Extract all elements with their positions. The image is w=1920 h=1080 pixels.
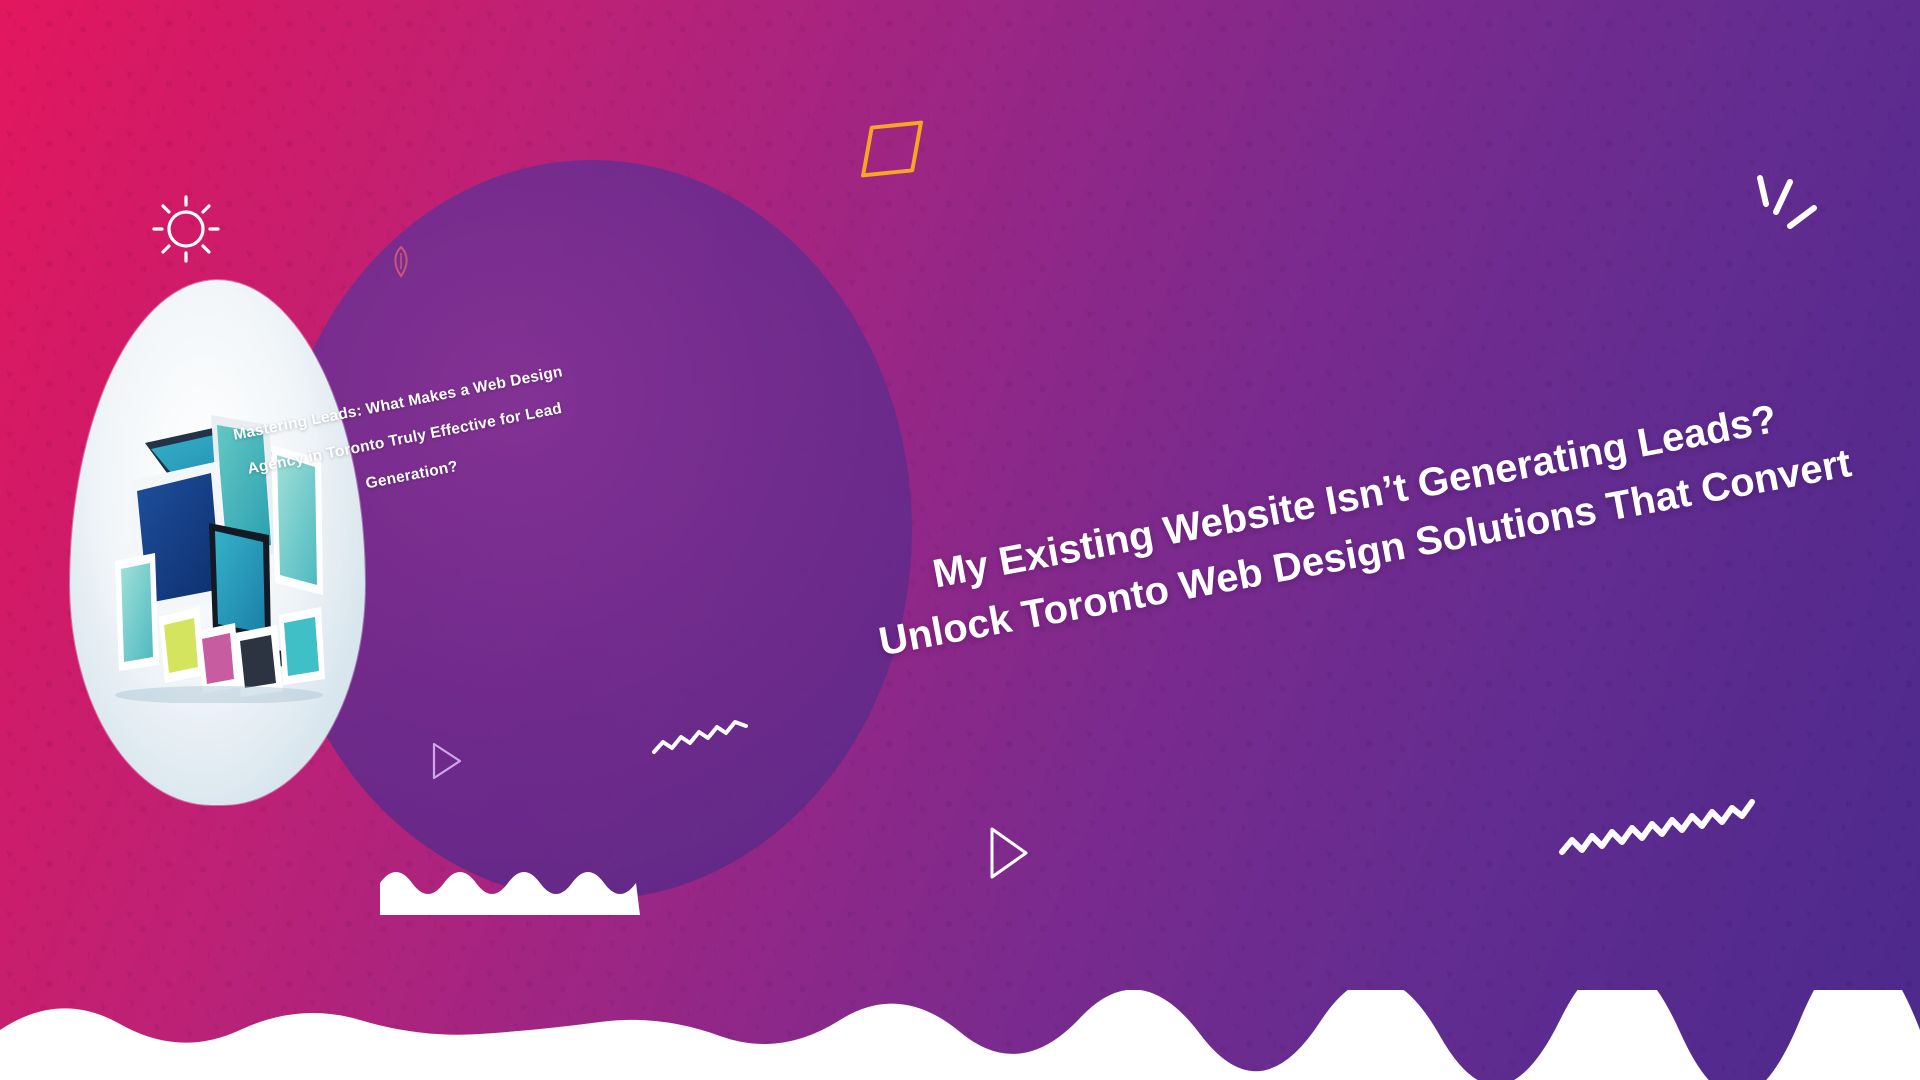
zigzag-line-small-icon (650, 718, 750, 758)
decorative-circle (272, 160, 912, 900)
promo-banner: Mastering Leads: What Makes a Web Design… (0, 0, 1920, 1080)
play-triangle-outline-large-icon (985, 825, 1031, 881)
flower-outline-icon (388, 245, 414, 279)
zigzag-line-large-icon (1558, 790, 1758, 860)
wave-divider-bottom (0, 990, 1920, 1080)
play-triangle-outline-small-icon (428, 740, 464, 782)
sun-icon (150, 193, 222, 265)
wave-divider-circle (380, 855, 640, 915)
headline: My Existing Website Isn’t Generating Lea… (829, 373, 1892, 678)
card-caption-line-3: Generation? (364, 458, 459, 493)
parallelogram-outline-icon (861, 120, 924, 177)
speed-dashes-icon (1748, 168, 1848, 248)
card-caption-line-2: Agency in Toronto Truly Effective for Le… (246, 400, 563, 478)
